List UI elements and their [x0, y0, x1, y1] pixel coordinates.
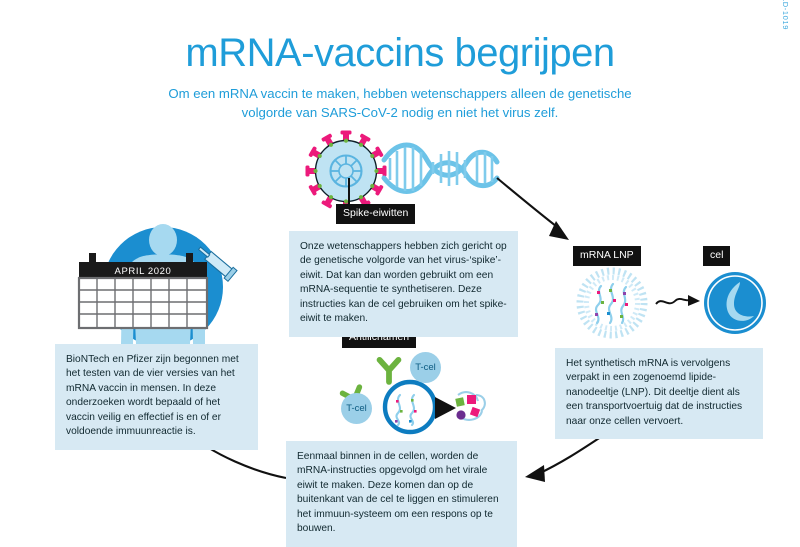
t-cell-bubble: T-cel	[341, 393, 372, 424]
calendar-icon: APRIL 2020	[79, 253, 207, 328]
page-subtitle: Om een mRNA vaccin te maken, hebben wete…	[160, 84, 640, 122]
antibody-icon	[380, 360, 399, 382]
label-mrna-lnp: mRNA LNP	[573, 246, 641, 266]
spike-label-connector	[348, 178, 350, 205]
protein-fragments	[455, 392, 485, 420]
virus-envelope	[316, 141, 377, 202]
infographic-canvas: mRNA-vaccins begrijpen Om een mRNA vacci…	[0, 0, 800, 530]
host-cell-outline	[385, 382, 435, 432]
clinical-trial-illustration: T-cel T-cel APRIL 2020	[64, 226, 254, 348]
step-box-lnp: Het synthetisch mRNA is vervolgens verpa…	[555, 348, 763, 439]
cell-illustration	[700, 268, 770, 338]
virus-and-dna-illustration	[300, 132, 500, 208]
dna-helix	[384, 145, 497, 192]
step-box-research: Onze wetenschappers hebben zich gericht …	[289, 231, 518, 337]
arrow-lnp-to-cell	[655, 292, 703, 312]
svg-text:APRIL 2020: APRIL 2020	[115, 266, 172, 277]
step-box-trials: BioNTech en Pfizer zijn begonnen met het…	[55, 344, 258, 450]
step-box-immune: Eenmaal binnen in de cellen, worden de m…	[286, 441, 517, 547]
label-spike-proteins: Spike-eiwitten	[336, 204, 415, 224]
t-cell-bubble: T-cel	[410, 352, 441, 383]
ribosome-icon	[435, 397, 456, 419]
page-title: mRNA-vaccins begrijpen	[0, 32, 800, 74]
label-cell: cel	[703, 246, 730, 266]
lnp-particle-illustration	[571, 268, 653, 338]
document-reference-code: PP-PFE-NLD-1019	[781, 0, 790, 30]
